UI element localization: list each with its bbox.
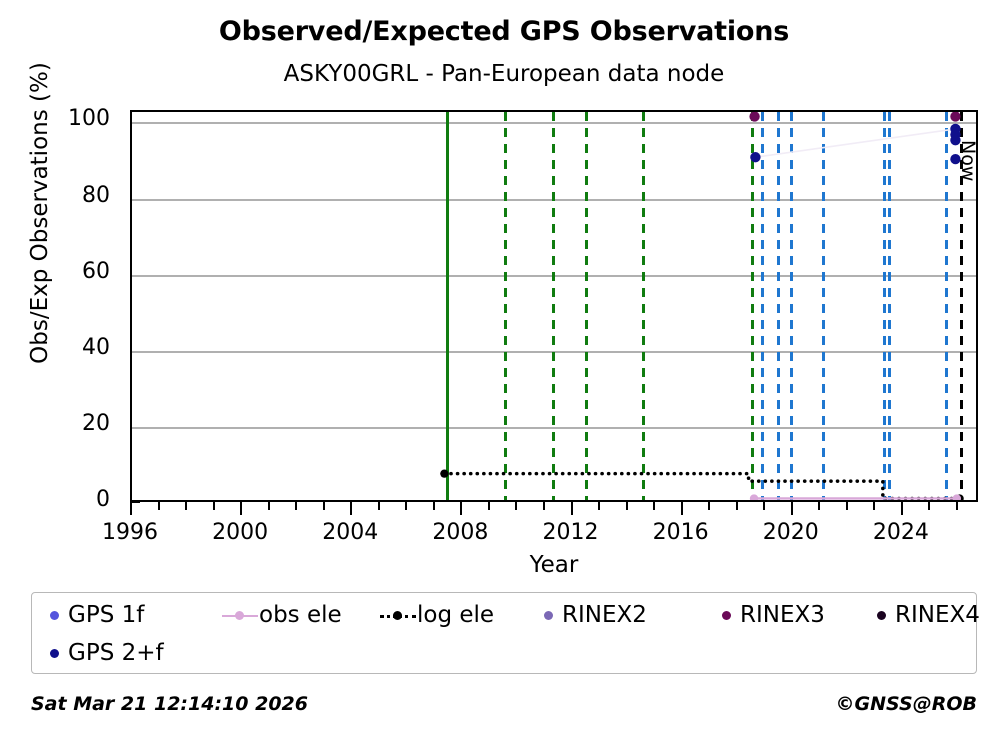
x-tick-minor (378, 502, 380, 510)
legend-item-rinex4[interactable]: RINEX4 (877, 602, 980, 628)
y-tick-label: 80 (58, 183, 110, 208)
series-connector-gps-2f (755, 129, 955, 157)
x-tick-minor (213, 502, 215, 510)
chart-title: Observed/Expected GPS Observations (0, 16, 1008, 47)
footer-timestamp: Sat Mar 21 12:14:10 2026 (31, 693, 308, 715)
x-tick (571, 502, 573, 515)
legend-label: GPS 2+f (68, 640, 164, 666)
data-point (749, 112, 759, 122)
series-layer (132, 112, 976, 500)
x-tick (901, 502, 903, 515)
x-tick-minor (736, 502, 738, 510)
x-tick (681, 502, 683, 515)
x-tick-label: 2012 (526, 520, 616, 545)
x-tick-minor (818, 502, 820, 510)
y-tick-label: 20 (58, 411, 110, 436)
legend-item-rinex3[interactable]: RINEX3 (722, 602, 825, 628)
legend-marker-icon (877, 611, 886, 620)
legend-line-icon (380, 610, 416, 621)
x-tick-minor (873, 502, 875, 510)
x-tick-minor (598, 502, 600, 510)
legend-marker-icon (50, 649, 59, 658)
chart-subtitle: ASKY00GRL - Pan-European data node (0, 61, 1008, 87)
footer-copyright: ©GNSS@ROB (836, 693, 977, 715)
legend-item-log-ele[interactable]: log ele (380, 602, 494, 628)
x-tick-label: 2000 (195, 520, 285, 545)
x-tick-minor (515, 502, 517, 510)
x-tick (240, 502, 242, 515)
y-tick-label: 40 (58, 335, 110, 360)
legend: GPS 1fobs elelog eleRINEX2RINEX3RINEX4GP… (31, 592, 977, 674)
x-tick-minor (543, 502, 545, 510)
x-tick-minor (405, 502, 407, 510)
legend-item-gps-2-f[interactable]: GPS 2+f (50, 640, 164, 666)
x-tick-label: 2024 (856, 520, 946, 545)
x-tick-minor (626, 502, 628, 510)
x-tick-minor (268, 502, 270, 510)
now-annotation: Now (957, 140, 976, 181)
x-tick (130, 502, 132, 515)
x-tick-minor (323, 502, 325, 510)
legend-label: RINEX2 (562, 602, 647, 628)
legend-marker-icon (544, 611, 553, 620)
x-tick-minor (653, 502, 655, 510)
x-tick (791, 502, 793, 515)
legend-label: RINEX3 (740, 602, 825, 628)
x-tick-label: 2016 (636, 520, 726, 545)
y-tick-label: 0 (58, 487, 110, 512)
legend-label: GPS 1f (68, 602, 144, 628)
y-tick-label: 100 (58, 106, 110, 131)
x-tick-minor (763, 502, 765, 510)
data-point (440, 469, 448, 477)
y-tick-label: 60 (58, 259, 110, 284)
x-axis-label: Year (130, 552, 978, 578)
legend-label: RINEX4 (895, 602, 980, 628)
x-tick-minor (185, 502, 187, 510)
x-tick-label: 2020 (746, 520, 836, 545)
x-tick (350, 502, 352, 515)
x-tick-minor (956, 502, 958, 510)
x-tick-minor (158, 502, 160, 510)
x-tick-minor (295, 502, 297, 510)
legend-item-obs-ele[interactable]: obs ele (222, 602, 342, 628)
series-line-log-ele (444, 474, 959, 499)
x-tick-minor (846, 502, 848, 510)
x-tick (460, 502, 462, 515)
legend-marker-icon (722, 611, 731, 620)
figure-root: Observed/Expected GPS Observations ASKY0… (0, 0, 1008, 734)
legend-marker-icon (50, 611, 59, 620)
x-tick-label: 2008 (415, 520, 505, 545)
data-point (950, 112, 960, 122)
x-tick-minor (708, 502, 710, 510)
x-tick-label: 1996 (85, 520, 175, 545)
data-point (750, 494, 758, 500)
x-tick-label: 2004 (305, 520, 395, 545)
legend-item-gps-1f[interactable]: GPS 1f (50, 602, 144, 628)
plot-clip: Now (132, 112, 976, 500)
legend-label: log ele (417, 602, 494, 628)
plot-area[interactable]: Now (130, 110, 978, 502)
x-tick-minor (928, 502, 930, 510)
data-point (750, 152, 760, 162)
x-tick-minor (488, 502, 490, 510)
legend-item-rinex2[interactable]: RINEX2 (544, 602, 647, 628)
legend-label: obs ele (259, 602, 342, 628)
y-axis-label: Obs/Exp Observations (%) (27, 3, 53, 423)
legend-line-icon (222, 610, 258, 621)
x-tick-minor (433, 502, 435, 510)
